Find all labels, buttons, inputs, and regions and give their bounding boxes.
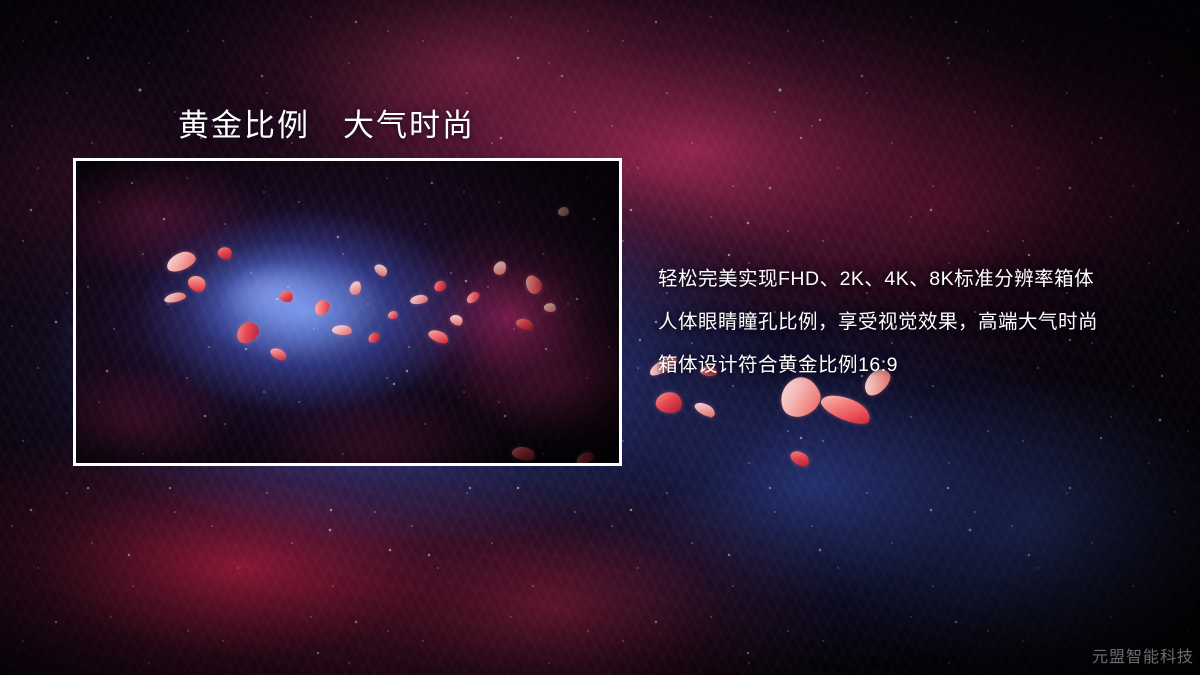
presentation-slide: 黄金比例 大气时尚 轻松完美实现FHD、2K、4K、8K标准分辨率箱体 人体眼睛… xyxy=(0,0,1200,675)
body-text-block: 轻松完美实现FHD、2K、4K、8K标准分辨率箱体 人体眼睛瞳孔比例，享受视觉效… xyxy=(658,258,1158,387)
photo-vignette xyxy=(76,161,619,463)
slide-title: 黄金比例 大气时尚 xyxy=(178,100,475,145)
company-watermark: 元盟智能科技 xyxy=(1092,643,1194,667)
body-line-1: 轻松完美实现FHD、2K、4K、8K标准分辨率箱体 xyxy=(658,258,1158,301)
body-line-2: 人体眼睛瞳孔比例，享受视觉效果，高端大气时尚 xyxy=(658,301,1158,344)
body-line-3: 箱体设计符合黄金比例16:9 xyxy=(658,344,1158,387)
framed-nebula-photo xyxy=(73,158,622,466)
